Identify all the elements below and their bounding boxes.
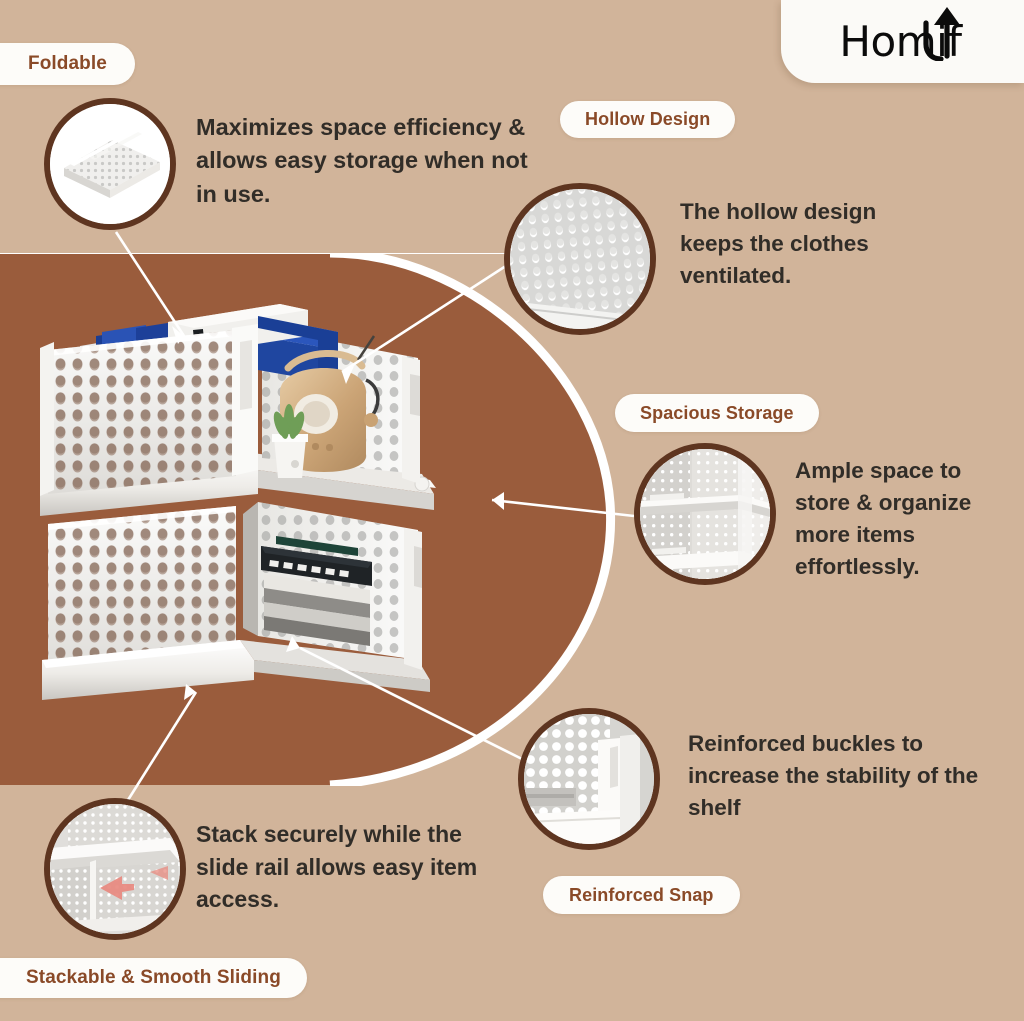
feature-description-foldable: Maximizes space efficiency & allows easy…	[196, 111, 544, 211]
infographic-canvas: Foldable Hollow Design Spacious Storage …	[0, 0, 1024, 1021]
badge-spacious-storage[interactable]: Spacious Storage	[615, 394, 819, 432]
feature-description-hollow-design: The hollow design keeps the clothes vent…	[680, 196, 930, 292]
badge-stackable-smooth-sliding[interactable]: Stackable & Smooth Sliding	[0, 958, 307, 998]
badge-hollow-design[interactable]: Hollow Design	[560, 101, 735, 138]
badge-foldable[interactable]: Foldable	[0, 43, 135, 85]
feature-circle-foldable	[44, 98, 176, 230]
badge-reinforced-snap[interactable]: Reinforced Snap	[543, 876, 740, 914]
feature-description-spacious-storage: Ample space to store & organize more ite…	[795, 455, 1010, 583]
badge-reinforced-snap-label: Reinforced Snap	[569, 885, 714, 906]
feature-description-reinforced-snap: Reinforced buckles to increase the stabi…	[688, 728, 988, 824]
badge-stackable-smooth-sliding-label: Stackable & Smooth Sliding	[26, 967, 281, 989]
brand-logo: Homif	[839, 17, 965, 66]
feature-circle-reinforced-snap	[518, 708, 660, 850]
brand-name-text: Homif	[839, 17, 961, 66]
brand-logo-card: Homif	[781, 0, 1024, 83]
badge-hollow-design-label: Hollow Design	[585, 109, 710, 130]
badge-foldable-label: Foldable	[28, 53, 107, 75]
badge-spacious-storage-label: Spacious Storage	[640, 403, 794, 424]
feature-description-stackable-sliding: Stack securely while the slide rail allo…	[196, 818, 506, 916]
feature-circle-spacious-storage	[634, 443, 776, 585]
feature-circle-stackable-sliding	[44, 798, 186, 940]
product-image-storage-shelf	[18, 288, 538, 758]
